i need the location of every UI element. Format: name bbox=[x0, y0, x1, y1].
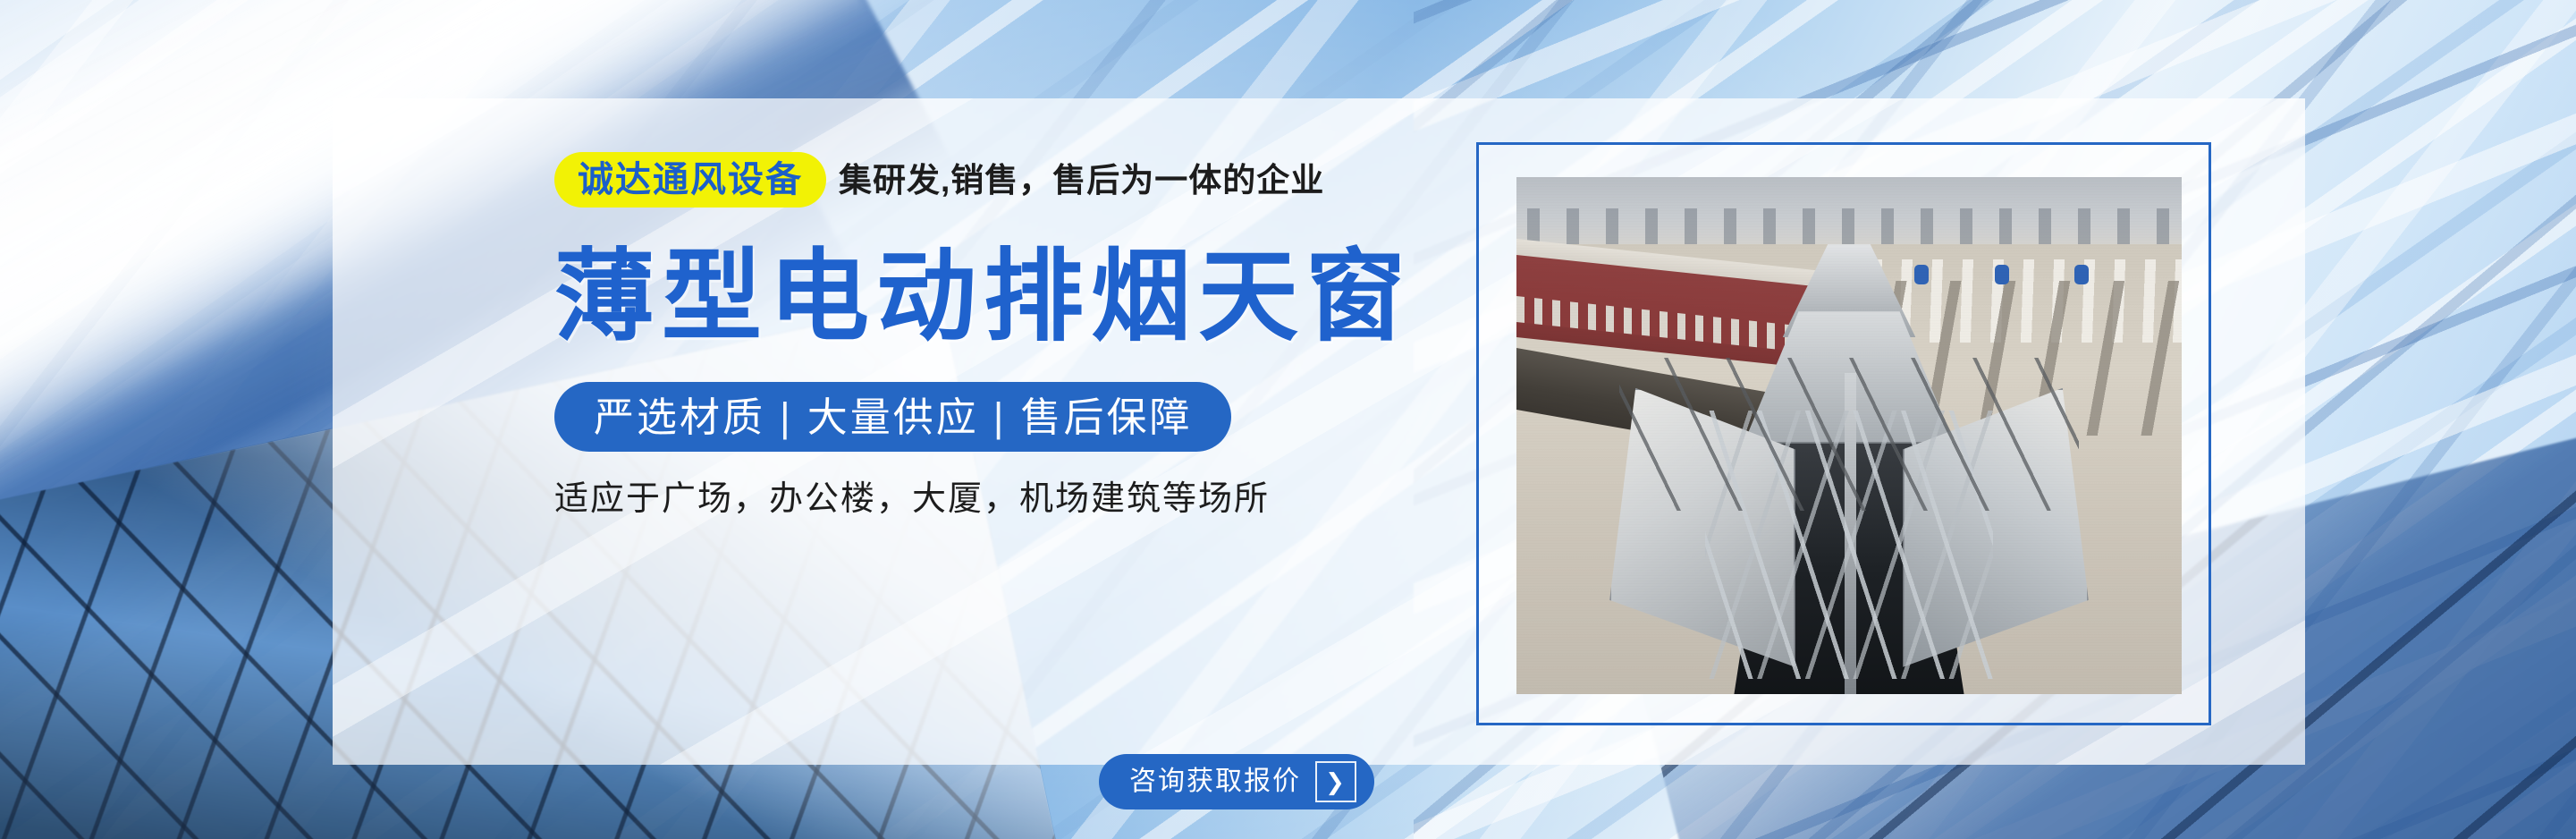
quote-cta-button[interactable]: 咨询获取报价 ❯ bbox=[1099, 754, 1374, 809]
feature-pill: 严选材质 | 大量供应 | 售后保障 bbox=[554, 382, 1231, 452]
tagline-text: 集研发,销售，售后为一体的企业 bbox=[839, 164, 1324, 197]
feature-separator-1: | bbox=[765, 397, 807, 437]
page-title: 薄型电动排烟天窗 bbox=[554, 242, 1592, 352]
photo-roof-vent-1 bbox=[2074, 265, 2089, 284]
feature-item-2: 大量供应 bbox=[807, 397, 979, 437]
brand-name-badge: 诚达通风设备 bbox=[554, 152, 826, 208]
feature-item-1: 严选材质 bbox=[594, 397, 765, 437]
tagline-row: 诚达通风设备 集研发,销售，售后为一体的企业 bbox=[554, 152, 1592, 208]
application-description: 适应于广场，办公楼，大厦，机场建筑等场所 bbox=[554, 482, 1592, 516]
text-column: 诚达通风设备 集研发,销售，售后为一体的企业 薄型电动排烟天窗 严选材质 | 大… bbox=[554, 152, 1592, 516]
photo-skylight-assembly bbox=[1609, 311, 2089, 694]
photo-roof-vent-3 bbox=[1914, 265, 1929, 284]
product-photo bbox=[1516, 177, 2182, 694]
quote-cta-label: 咨询获取报价 bbox=[1129, 768, 1301, 795]
feature-separator-2: | bbox=[979, 397, 1021, 437]
promo-banner: 诚达通风设备 集研发,销售，售后为一体的企业 薄型电动排烟天窗 严选材质 | 大… bbox=[0, 0, 2576, 839]
photo-roof-vent-2 bbox=[1995, 265, 2009, 284]
photo-skyline bbox=[1516, 208, 2182, 250]
chevron-right-icon: ❯ bbox=[1315, 761, 1356, 802]
feature-item-3: 售后保障 bbox=[1020, 397, 1192, 437]
photo-skylight-struts bbox=[1619, 358, 2079, 511]
